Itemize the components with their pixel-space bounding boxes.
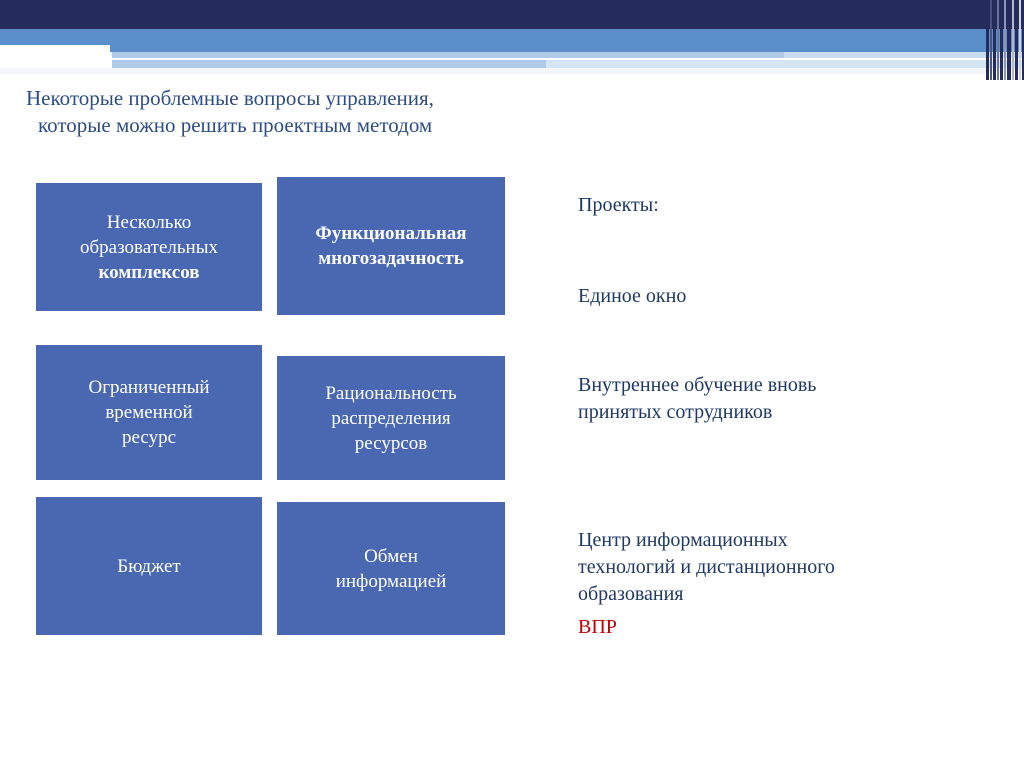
vertical-stripe-1 [990,0,992,80]
problem-box-line: многозадачность [285,246,497,271]
mid-blue-band-2 [110,42,1024,52]
vertical-stripe-4 [1000,0,1003,80]
problem-box-line: распределения [285,406,497,431]
vertical-stripe-9 [1019,0,1021,80]
project-item-vpr: ВПР [578,614,617,641]
problem-box-information-exchange[interactable]: Обменинформацией [277,502,505,635]
problem-box-line: Бюджет [44,554,254,579]
vertical-stripe-3 [997,0,999,80]
vertical-stripe-8 [1015,0,1018,80]
pale-blue-band-2b [546,60,1024,68]
slide-title: Некоторые проблемные вопросы управления,… [20,85,560,139]
problem-box-line: информацией [285,569,497,594]
problem-box-text: Бюджет [44,554,254,579]
project-item-it-center: Центр информационных технологий и дистан… [578,527,978,608]
problem-box-line: комплексов [44,260,254,285]
faint-blue-band [0,68,1024,74]
vertical-stripe-7 [1012,0,1014,80]
projects-heading: Проекты: [578,192,659,219]
problem-box-line: Ограниченный [44,375,254,400]
problem-box-budget[interactable]: Бюджет [36,497,262,635]
problem-box-text: Рациональностьраспределенияресурсов [285,381,497,456]
problem-box-line: Рациональность [285,381,497,406]
problem-box-rational-resource-allocation[interactable]: Рациональностьраспределенияресурсов [277,356,505,480]
slide-canvas: Некоторые проблемные вопросы управления,… [0,0,1024,767]
top-decoration-banner [0,0,1024,80]
problem-box-line: образовательных [44,235,254,260]
project-item-internal-training: Внутреннее обучение вновь принятых сотру… [578,372,978,426]
project-item-single-window: Единое окно [578,283,686,310]
problem-box-functional-multitasking[interactable]: Функциональнаямногозадачность [277,177,505,315]
pale-blue-band-2 [112,60,546,68]
vertical-stripe-2 [993,0,996,80]
problem-box-line: временной [44,400,254,425]
problem-box-line: ресурсов [285,431,497,456]
vertical-stripe-0 [986,0,989,80]
vertical-stripe-5 [1004,0,1006,80]
problem-box-text: Функциональнаямногозадачность [285,221,497,271]
navy-band [0,0,1024,29]
problem-box-limited-time-resource[interactable]: Ограниченныйвременнойресурс [36,345,262,480]
problem-box-text: Несколькообразовательныхкомплексов [44,210,254,285]
pale-blue-band-1 [112,52,784,58]
problem-box-line: Обмен [285,544,497,569]
slide-title-line-2: которые можно решить проектным методом [20,112,560,139]
vertical-stripe-6 [1007,0,1011,80]
problem-box-text: Обменинформацией [285,544,497,594]
slide-title-line-1: Некоторые проблемные вопросы управления, [20,85,560,112]
problem-box-line: Функциональная [285,221,497,246]
problem-box-line: Несколько [44,210,254,235]
problem-box-text: Ограниченныйвременнойресурс [44,375,254,450]
problem-box-line: ресурс [44,425,254,450]
problem-box-several-educational-complexes[interactable]: Несколькообразовательныхкомплексов [36,183,262,311]
